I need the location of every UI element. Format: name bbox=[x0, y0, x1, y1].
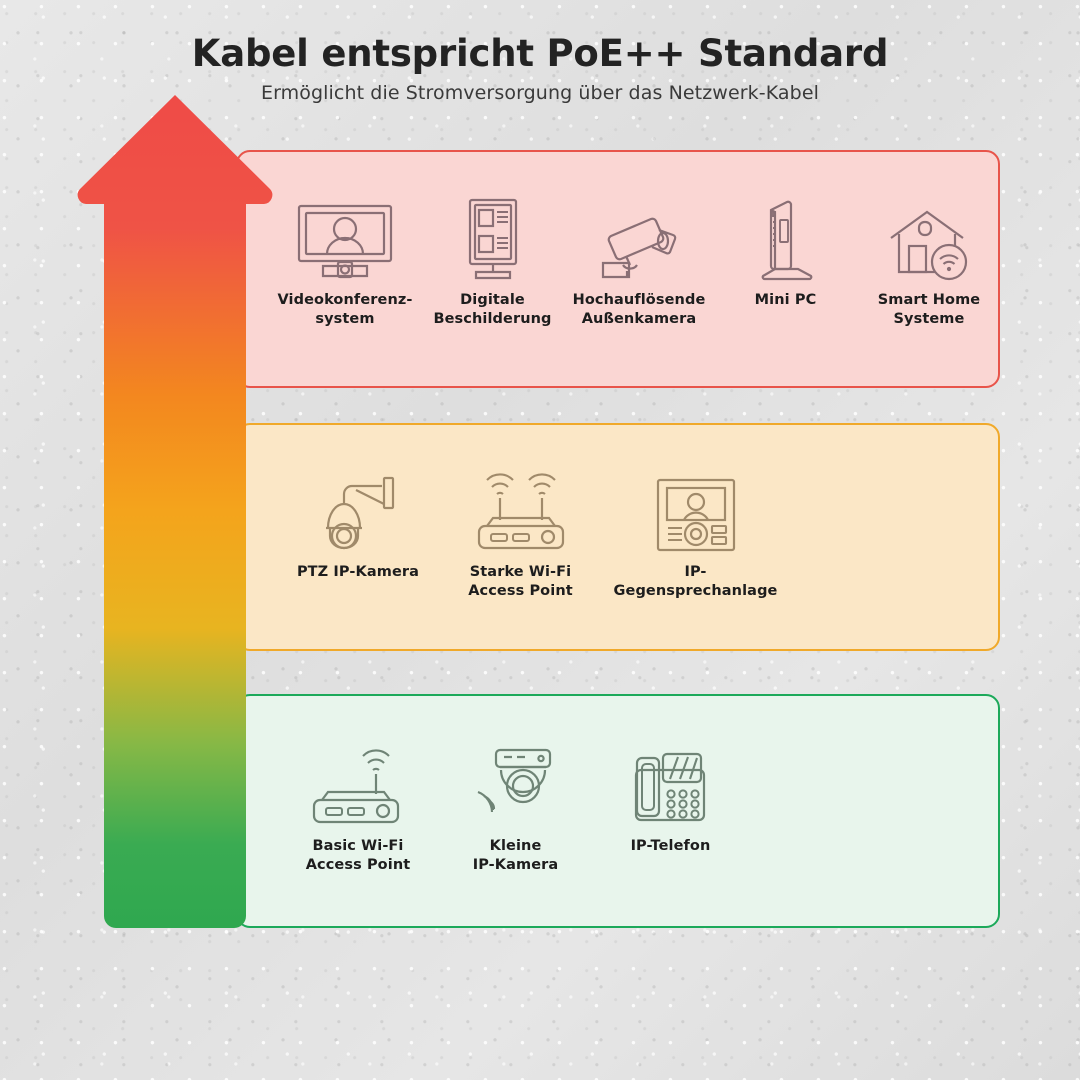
device-list-poe: Basic Wi-Fi Access Point Kleine IP-Kamer… bbox=[278, 736, 748, 874]
device-label: PTZ IP-Kamera bbox=[297, 563, 419, 582]
ptz-camera-icon bbox=[316, 462, 400, 554]
device-label: IP- Gegensprechanlage bbox=[614, 563, 778, 600]
wifi-router-dual-icon bbox=[469, 462, 573, 554]
device-label: Kleine IP-Kamera bbox=[473, 837, 559, 874]
device-ptz-camera: PTZ IP-Kamera bbox=[278, 462, 438, 600]
device-smart-home: Smart Home Systeme bbox=[858, 196, 1000, 328]
device-label: IP-Telefon bbox=[631, 837, 711, 856]
device-label: Hochauflösende Außenkamera bbox=[573, 291, 706, 328]
device-small-ip-camera: Kleine IP-Kamera bbox=[438, 736, 593, 874]
device-mini-pc: Mini PC bbox=[713, 196, 858, 328]
page-title: Kabel entspricht PoE++ Standard bbox=[0, 34, 1080, 75]
device-label: Mini PC bbox=[755, 291, 817, 310]
mini-pc-icon bbox=[753, 196, 819, 282]
power-gradient-arrow bbox=[74, 92, 276, 930]
device-label: Starke Wi-Fi Access Point bbox=[468, 563, 573, 600]
device-label: Basic Wi-Fi Access Point bbox=[306, 837, 411, 874]
videoconference-icon bbox=[293, 196, 397, 282]
bullet-camera-icon bbox=[593, 196, 685, 282]
device-ip-phone: IP-Telefon bbox=[593, 736, 748, 874]
digital-signage-icon bbox=[456, 196, 530, 282]
device-wifi-ap-strong: Starke Wi-Fi Access Point bbox=[438, 462, 603, 600]
ip-phone-icon bbox=[629, 736, 713, 828]
ip-intercom-icon bbox=[654, 462, 738, 554]
device-label: Smart Home Systeme bbox=[878, 291, 981, 328]
device-label: Videokonferenz- system bbox=[277, 291, 412, 328]
smart-home-icon bbox=[887, 196, 971, 282]
wifi-router-single-icon bbox=[306, 736, 410, 828]
device-videoconference: Videokonferenz- system bbox=[270, 196, 420, 328]
device-label: Digitale Beschilderung bbox=[433, 291, 551, 328]
device-list-poe-plus: PTZ IP-Kamera Starke Wi-Fi Access Point bbox=[278, 462, 798, 600]
device-outdoor-camera: Hochauflösende Außenkamera bbox=[565, 196, 713, 328]
device-digital-signage: Digitale Beschilderung bbox=[420, 196, 565, 328]
device-wifi-ap-basic: Basic Wi-Fi Access Point bbox=[278, 736, 438, 874]
device-ip-intercom: IP- Gegensprechanlage bbox=[603, 462, 788, 600]
device-list-poe-plus-plus: Videokonferenz- system Digitale Beschild… bbox=[270, 196, 1000, 328]
dome-camera-icon bbox=[472, 736, 560, 828]
